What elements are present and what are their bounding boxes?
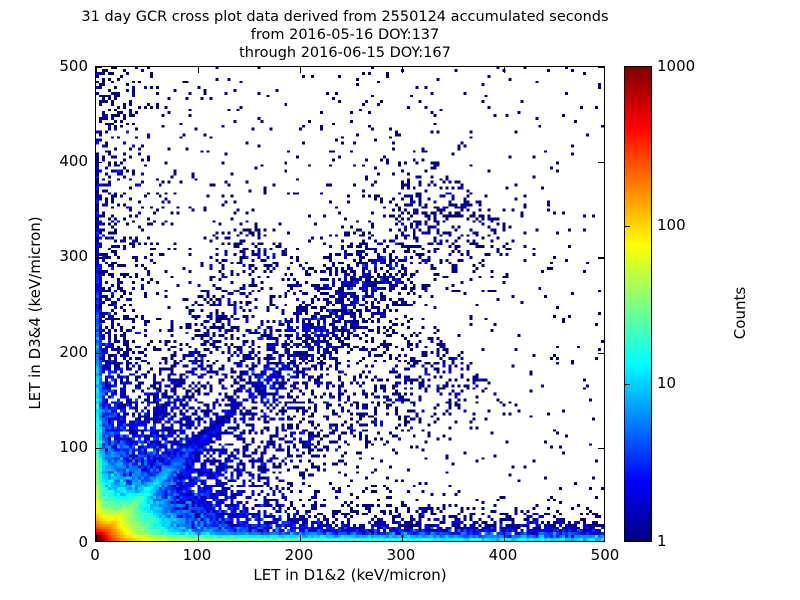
colorbar-tick-label-100: 100 bbox=[657, 216, 686, 234]
y-tick-500 bbox=[96, 67, 102, 68]
y-tick-label-300: 300 bbox=[59, 247, 88, 265]
colorbar-tick-label-10: 10 bbox=[657, 374, 676, 392]
x-tick-400 bbox=[504, 535, 505, 541]
y-tick-100 bbox=[96, 448, 102, 449]
x-tick-top-400 bbox=[504, 67, 505, 73]
colorbar bbox=[624, 66, 652, 542]
y-tick-right-100 bbox=[598, 448, 604, 449]
colorbar-tick-10 bbox=[625, 384, 630, 385]
y-tick-400 bbox=[96, 162, 102, 163]
colorbar-tick-100 bbox=[625, 226, 630, 227]
colorbar-tick-label-1: 1 bbox=[657, 532, 667, 550]
colorbar-tick-label-1000: 1000 bbox=[657, 57, 695, 75]
chart-title: 31 day GCR cross plot data derived from … bbox=[0, 8, 690, 62]
chart-title-line-3: through 2016-06-15 DOY:167 bbox=[0, 44, 690, 62]
x-tick-label-200: 200 bbox=[285, 546, 314, 564]
chart-title-line-2: from 2016-05-16 DOY:137 bbox=[0, 26, 690, 44]
x-tick-100 bbox=[198, 535, 199, 541]
x-tick-label-100: 100 bbox=[183, 546, 212, 564]
x-tick-top-100 bbox=[198, 67, 199, 73]
x-tick-top-200 bbox=[300, 67, 301, 73]
colorbar-gradient bbox=[625, 67, 651, 541]
y-tick-300 bbox=[96, 257, 102, 258]
y-tick-200 bbox=[96, 353, 102, 354]
heatmap-scatter-layer bbox=[96, 67, 604, 541]
x-tick-0 bbox=[96, 535, 97, 541]
y-tick-label-400: 400 bbox=[59, 152, 88, 170]
x-tick-label-300: 300 bbox=[387, 546, 416, 564]
y-tick-label-0: 0 bbox=[78, 533, 88, 551]
x-axis-title: LET in D1&2 (keV/micron) bbox=[95, 566, 605, 584]
y-tick-label-100: 100 bbox=[59, 438, 88, 456]
chart-title-line-1: 31 day GCR cross plot data derived from … bbox=[0, 8, 690, 26]
y-tick-right-500 bbox=[598, 67, 604, 68]
y-tick-label-200: 200 bbox=[59, 343, 88, 361]
y-tick-right-200 bbox=[598, 353, 604, 354]
y-tick-right-400 bbox=[598, 162, 604, 163]
x-tick-300 bbox=[402, 535, 403, 541]
y-tick-right-300 bbox=[598, 257, 604, 258]
x-tick-label-500: 500 bbox=[591, 546, 620, 564]
x-tick-label-0: 0 bbox=[90, 546, 100, 564]
figure-canvas: 31 day GCR cross plot data derived from … bbox=[0, 0, 800, 600]
y-tick-label-500: 500 bbox=[59, 57, 88, 75]
x-tick-200 bbox=[300, 535, 301, 541]
plot-area bbox=[95, 66, 605, 542]
x-tick-top-300 bbox=[402, 67, 403, 73]
colorbar-title: Counts bbox=[731, 173, 749, 453]
y-axis-title: LET in D3&4 (keV/micron) bbox=[26, 75, 44, 551]
x-tick-label-400: 400 bbox=[489, 546, 518, 564]
